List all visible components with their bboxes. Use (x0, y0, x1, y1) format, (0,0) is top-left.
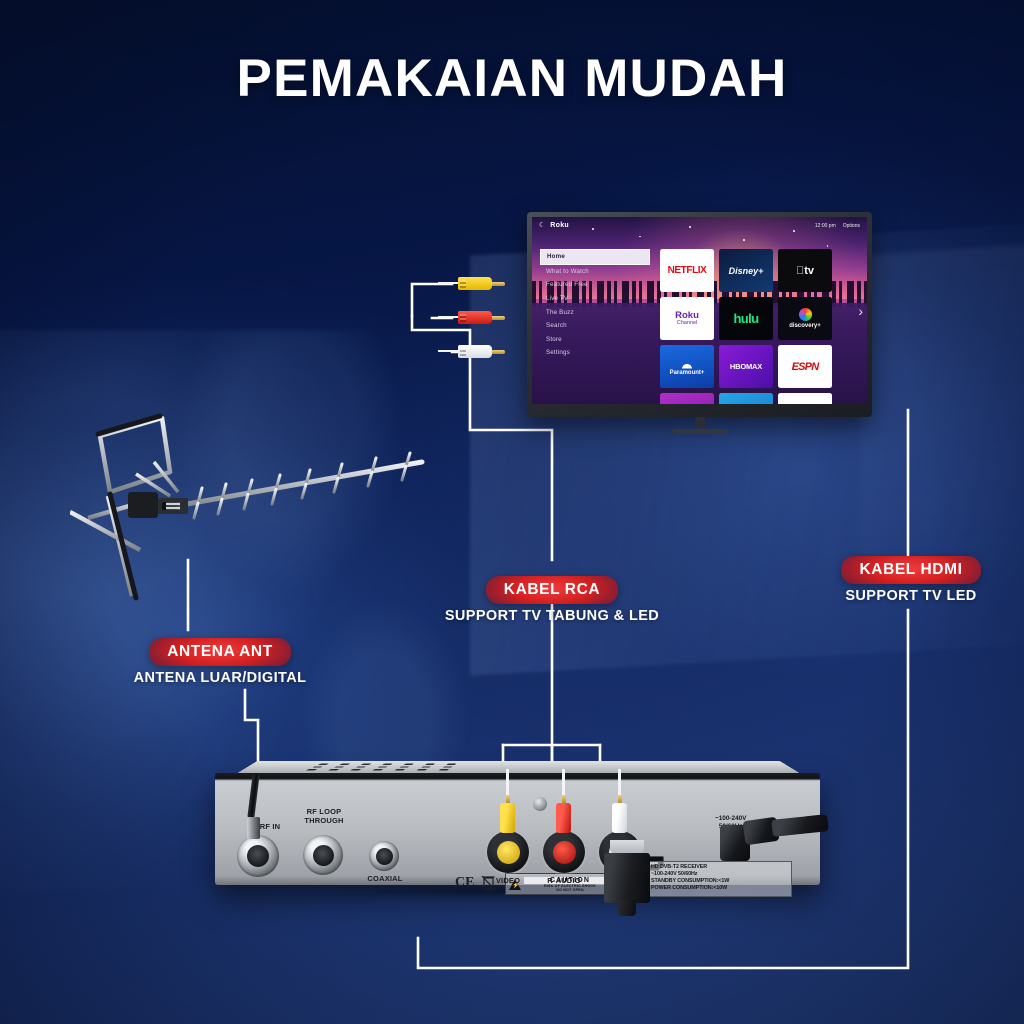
dvb-t2-receiver: RF IN RF LOOP THROUGH COAXIAL CE (215, 745, 820, 900)
power-cord (720, 817, 825, 865)
antenna-coax-cable (245, 795, 267, 855)
callout-hdmi: KABEL HDMI SUPPORT TV LED (818, 556, 1004, 604)
spec-plate: HD DVB-T2 RECEIVER ~100-240V 50/60Hz STA… (647, 861, 792, 897)
roku-logo: Roku (550, 222, 569, 229)
app-tile-netflix[interactable]: NETFLIX (660, 249, 714, 292)
rca-cable-left-audio-plugged (612, 795, 627, 841)
spec-line-4: POWER CONSUMPTION:<10W (651, 885, 788, 892)
rca-cable-right-audio-plugged (556, 795, 571, 841)
app-tile-apple-tv[interactable]: tv (778, 249, 832, 292)
port-label-r-audio: R-AUDIO (535, 876, 593, 885)
tv-app-grid: NETFLIX Disney+ tv RokuChannel hulu dis… (660, 249, 832, 404)
tv-menu-item-what-to-watch[interactable]: What to Watch (540, 265, 650, 279)
rca-plug-left-audio (458, 344, 514, 359)
app-tile-espn[interactable]: ESPN (778, 345, 832, 388)
tv-menu: Home What to Watch Featured Free Live TV… (540, 249, 650, 360)
callout-rca: KABEL RCA SUPPORT TV TABUNG & LED (402, 576, 702, 624)
tv-menu-item-settings[interactable]: Settings (540, 346, 650, 360)
port-label-rf-loop: RF LOOP THROUGH (293, 807, 355, 825)
tv-clock: 12:00 pm (815, 223, 836, 229)
app-tile-tv[interactable]: TV (660, 393, 714, 404)
port-rf-loop-through[interactable] (303, 835, 343, 875)
tv-menu-item-search[interactable]: Search (540, 319, 650, 333)
callout-hdmi-sub: SUPPORT TV LED (818, 588, 1004, 604)
spec-line-1: HD DVB-T2 RECEIVER (651, 864, 788, 871)
rca-wire-left-audio (438, 350, 460, 352)
hdmi-cable-plug (601, 840, 653, 932)
tv-menu-item-live-tv[interactable]: Live TV (540, 292, 650, 306)
paramount-label: Paramount+ (670, 370, 705, 376)
tv-menu-item-the-buzz[interactable]: The Buzz (540, 305, 650, 319)
app-tile-hulu[interactable]: hulu (719, 297, 773, 340)
paramount-mountain-icon (680, 358, 694, 369)
tv-bezel: ☾ Roku 12:00 pm Options Home What to Wat… (527, 212, 872, 417)
coax-connector (247, 817, 260, 839)
tv-menu-item-store[interactable]: Store (540, 333, 650, 347)
callout-antena: ANTENA ANT ANTENA LUAR/DIGITAL (70, 638, 370, 686)
apple-icon:  (796, 265, 804, 277)
rf-loop-line1: RF LOOP (307, 807, 342, 816)
app-tile-disney[interactable]: Disney+ (719, 249, 773, 292)
rca-cable-video-plugged (500, 795, 515, 841)
app-tile-apple-tv-label: tv (804, 265, 814, 277)
tv-menu-item-featured-free[interactable]: Featured Free (540, 278, 650, 292)
app-tile-play[interactable] (778, 393, 832, 404)
discovery-logo-icon (799, 308, 812, 321)
tv-options-label[interactable]: Options (843, 223, 860, 229)
callout-rca-pill[interactable]: KABEL RCA (486, 576, 618, 604)
callout-hdmi-pill[interactable]: KABEL HDMI (841, 556, 980, 584)
moon-icon: ☾ (539, 222, 545, 229)
tv-menu-item-home[interactable]: Home (540, 249, 650, 265)
port-coaxial[interactable] (369, 841, 399, 871)
chassis-screw (533, 797, 547, 811)
app-tile-roku-channel[interactable]: RokuChannel (660, 297, 714, 340)
rca-wire-right-audio (438, 316, 460, 318)
app-tile-discovery[interactable]: discovery+ (778, 297, 832, 340)
ce-mark: CE (455, 875, 474, 891)
app-tile-hbomax[interactable]: HBOMAX (719, 345, 773, 388)
port-label-coaxial: COAXIAL (355, 874, 415, 883)
receiver-rear-panel: RF IN RF LOOP THROUGH COAXIAL CE (215, 773, 820, 885)
hdmi-plug-body (604, 853, 650, 903)
tv-topbar: ☾ Roku 12:00 pm Options (532, 217, 867, 234)
rca-plug-right-audio (458, 310, 514, 325)
app-tile-paramount[interactable]: Paramount+ (660, 345, 714, 388)
roku-channel-sub: Channel (677, 321, 698, 327)
tv-screen: ☾ Roku 12:00 pm Options Home What to Wat… (532, 217, 867, 404)
rca-wire-video (438, 282, 460, 284)
port-label-video: VIDEO (483, 876, 533, 885)
tv-stand (672, 417, 728, 433)
callout-rca-sub: SUPPORT TV TABUNG & LED (402, 608, 702, 624)
spec-line-3: STANDBY CONSUMPTION:<1W (651, 878, 788, 885)
callout-antena-pill[interactable]: ANTENA ANT (149, 638, 291, 666)
roku-channel-label: Roku (675, 311, 699, 321)
outdoor-yagi-antenna (70, 400, 440, 620)
rca-plug-trio (452, 272, 522, 364)
carousel-next-icon[interactable]: › (858, 303, 863, 319)
rca-plug-video (458, 276, 514, 291)
app-tile-kids[interactable]: Kids & Family (719, 393, 773, 404)
coax-wire (247, 773, 260, 820)
callout-antena-sub: ANTENA LUAR/DIGITAL (70, 670, 370, 686)
rf-loop-line2: THROUGH (304, 816, 343, 825)
tv-topbar-right: 12:00 pm Options (815, 223, 860, 229)
television: ☾ Roku 12:00 pm Options Home What to Wat… (527, 212, 872, 417)
ventilation-slots (309, 764, 453, 771)
hdmi-plug-neck (618, 900, 636, 916)
discovery-label: discovery+ (789, 323, 821, 329)
spec-line-2: ~100-240V 50/60Hz (651, 871, 788, 878)
